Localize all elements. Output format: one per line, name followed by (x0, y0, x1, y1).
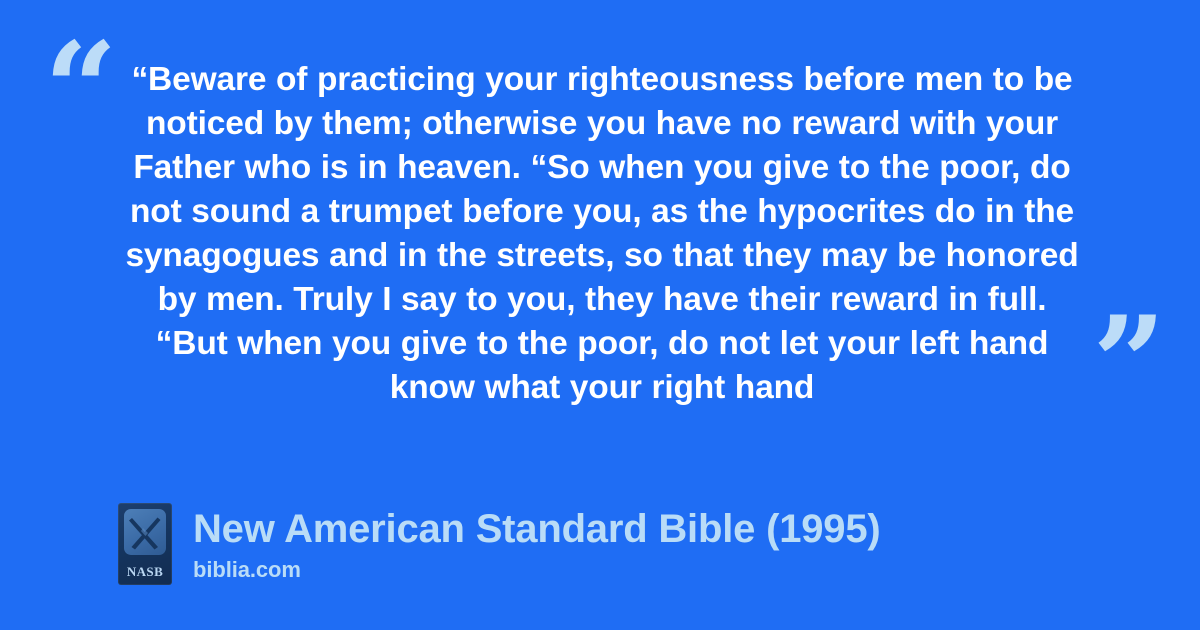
logo-inner-tile (124, 509, 166, 555)
attribution-text: New American Standard Bible (1995) bibli… (193, 503, 881, 583)
close-quote-icon: ” (1092, 300, 1164, 428)
website-label: biblia.com (193, 557, 881, 583)
quote-card: “ “Beware of practicing your righteousne… (0, 0, 1200, 630)
nasb-logo: NASB (118, 503, 172, 585)
nasb-crossed-sword-icon (124, 509, 166, 555)
open-quote-icon: “ (44, 26, 116, 154)
logo-label: NASB (118, 565, 172, 578)
quote-block: “Beware of practicing your righteousness… (122, 58, 1082, 410)
attribution: NASB New American Standard Bible (1995) … (118, 503, 881, 585)
quote-text: “Beware of practicing your righteousness… (122, 58, 1082, 410)
bible-version-title: New American Standard Bible (1995) (193, 505, 881, 553)
